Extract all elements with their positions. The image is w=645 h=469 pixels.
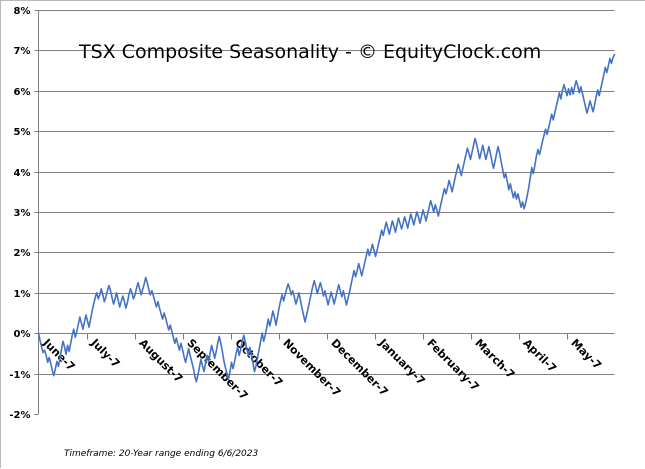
chart-background [1,1,645,469]
seasonality-chart: 8%7%6%5%4%3%2%1%0%-1%-2% June-7July-7Aug… [0,0,645,468]
y-axis-label: 8% [14,6,31,17]
y-axis-label: 2% [14,248,31,259]
y-axis-label: 3% [14,208,31,219]
y-axis-label: 7% [14,46,31,57]
y-axis-label: 0% [14,329,31,340]
y-axis-label: 1% [14,289,31,300]
chart-footnote: Timeframe: 20-Year range ending 6/6/2023 [64,449,259,459]
y-axis-label: -2% [9,410,30,421]
chart-canvas: 8%7%6%5%4%3%2%1%0%-1%-2% June-7July-7Aug… [1,1,645,469]
y-axis-label: 4% [14,168,31,179]
chart-title: TSX Composite Seasonality - © EquityCloc… [78,41,541,63]
y-axis-label: 6% [14,87,31,98]
y-axis-label: -1% [9,370,30,381]
y-axis-label: 5% [14,127,31,138]
